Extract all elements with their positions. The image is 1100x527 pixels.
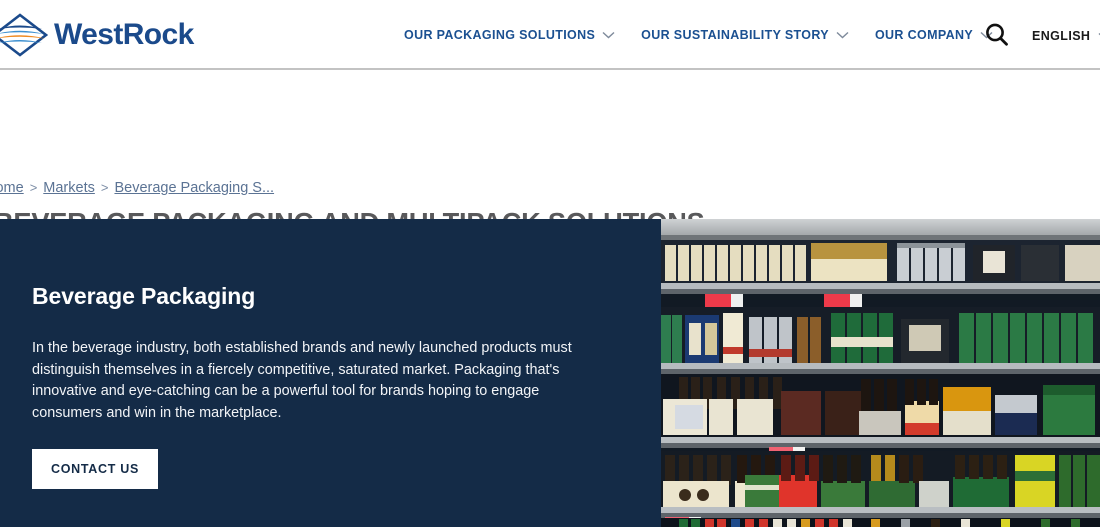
search-icon <box>982 37 1012 54</box>
nav-item-label: OUR COMPANY <box>875 28 973 42</box>
breadcrumb-separator: > <box>30 180 38 195</box>
logo-wordmark: WestRock <box>54 20 194 50</box>
hero-copy: Beverage Packaging In the beverage indus… <box>32 283 632 424</box>
main-navigation: OUR PACKAGING SOLUTIONS OUR SUSTAINABILI… <box>404 26 1019 44</box>
breadcrumb-item-current[interactable]: Beverage Packaging S... <box>114 180 274 196</box>
hero-title: Beverage Packaging <box>32 283 632 310</box>
chevron-down-icon <box>836 26 849 44</box>
hero-body-text: In the beverage industry, both establish… <box>32 338 612 424</box>
chevron-down-icon <box>602 26 615 44</box>
westrock-diamond-logo-icon <box>0 13 48 57</box>
hero-shelf-photo <box>661 219 1100 527</box>
site-header: WestRock OUR PACKAGING SOLUTIONS OUR SUS… <box>0 0 1100 70</box>
nav-item-packaging-solutions[interactable]: OUR PACKAGING SOLUTIONS <box>404 26 615 44</box>
language-selector[interactable]: ENGLISH <box>1032 27 1100 45</box>
breadcrumb-separator: > <box>101 180 109 195</box>
nav-item-label: OUR SUSTAINABILITY STORY <box>641 28 829 42</box>
nav-item-label: OUR PACKAGING SOLUTIONS <box>404 28 595 42</box>
breadcrumb-item-home[interactable]: Home <box>0 180 24 196</box>
nav-item-sustainability-story[interactable]: OUR SUSTAINABILITY STORY <box>641 26 849 44</box>
nav-item-our-company[interactable]: OUR COMPANY <box>875 26 993 44</box>
search-button[interactable] <box>982 20 1012 50</box>
site-logo[interactable]: WestRock <box>0 13 194 57</box>
hero-section: Beverage Packaging In the beverage indus… <box>0 219 1100 527</box>
language-label: ENGLISH <box>1032 29 1090 43</box>
hero-contact-us-button[interactable]: CONTACT US <box>32 449 158 489</box>
page-subheader: Home > Markets > Beverage Packaging S...… <box>0 70 1100 219</box>
breadcrumb-item-markets[interactable]: Markets <box>43 180 95 196</box>
breadcrumb: Home > Markets > Beverage Packaging S... <box>0 180 274 196</box>
